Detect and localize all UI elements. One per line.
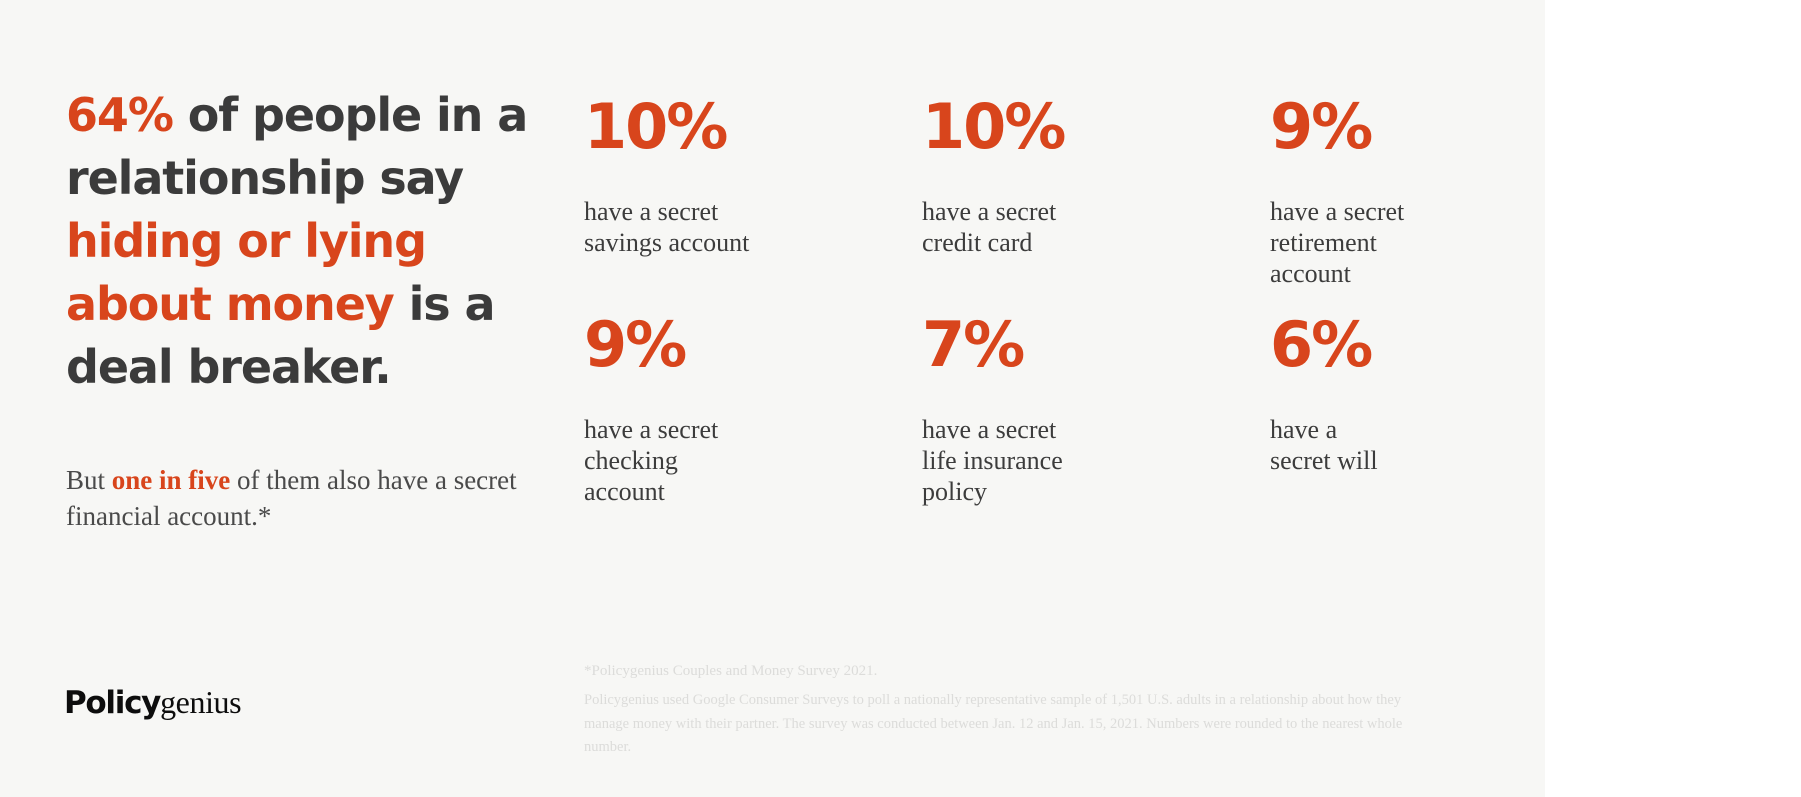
stat-label: have a secret checking account bbox=[584, 414, 922, 508]
headline-stat-64: 64% bbox=[66, 88, 173, 142]
stat-value: 10% bbox=[584, 96, 922, 158]
stat-label: have a secret retirement account bbox=[1270, 196, 1514, 290]
stat-card-checking-account: 9% have a secret checking account bbox=[584, 314, 922, 508]
stat-value: 6% bbox=[1270, 314, 1514, 376]
footnote-source: *Policygenius Couples and Money Survey 2… bbox=[584, 660, 1424, 683]
subnote-highlight: one in five bbox=[112, 465, 231, 495]
stat-value: 9% bbox=[1270, 96, 1514, 158]
logo-serif-text: genius bbox=[160, 684, 241, 720]
stat-label: have a secret credit card bbox=[922, 196, 1270, 258]
left-column: 64% of people in a relationship say hidi… bbox=[66, 84, 536, 399]
policygenius-logo: Policygenius bbox=[64, 686, 241, 719]
stat-card-secret-will: 6% have a secret will bbox=[1270, 314, 1514, 508]
footnote-methodology: Policygenius used Google Consumer Survey… bbox=[584, 689, 1414, 759]
page-title: 64% of people in a relationship say hidi… bbox=[66, 84, 536, 399]
stat-label: have a secret life insurance policy bbox=[922, 414, 1270, 508]
stat-card-retirement-account: 9% have a secret retirement account bbox=[1270, 96, 1514, 314]
stat-value: 9% bbox=[584, 314, 922, 376]
stat-card-savings-account: 10% have a secret savings account bbox=[584, 96, 922, 314]
stat-label: have a secret will bbox=[1270, 414, 1514, 476]
infographic-canvas: 64% of people in a relationship say hidi… bbox=[0, 0, 1545, 797]
stats-grid: 10% have a secret savings account 10% ha… bbox=[584, 96, 1514, 508]
logo-bold-text: Policy bbox=[64, 685, 160, 721]
stat-value: 10% bbox=[922, 96, 1270, 158]
subheadline: But one in five of them also have a secr… bbox=[66, 463, 536, 535]
stat-label: have a secret savings account bbox=[584, 196, 922, 258]
stat-card-life-insurance-policy: 7% have a secret life insurance policy bbox=[922, 314, 1270, 508]
headline-emphasis: hiding or lying about money bbox=[66, 214, 426, 331]
footnotes: *Policygenius Couples and Money Survey 2… bbox=[584, 660, 1424, 760]
stat-card-credit-card: 10% have a secret credit card bbox=[922, 96, 1270, 314]
stat-value: 7% bbox=[922, 314, 1270, 376]
subnote-before: But bbox=[66, 465, 112, 495]
